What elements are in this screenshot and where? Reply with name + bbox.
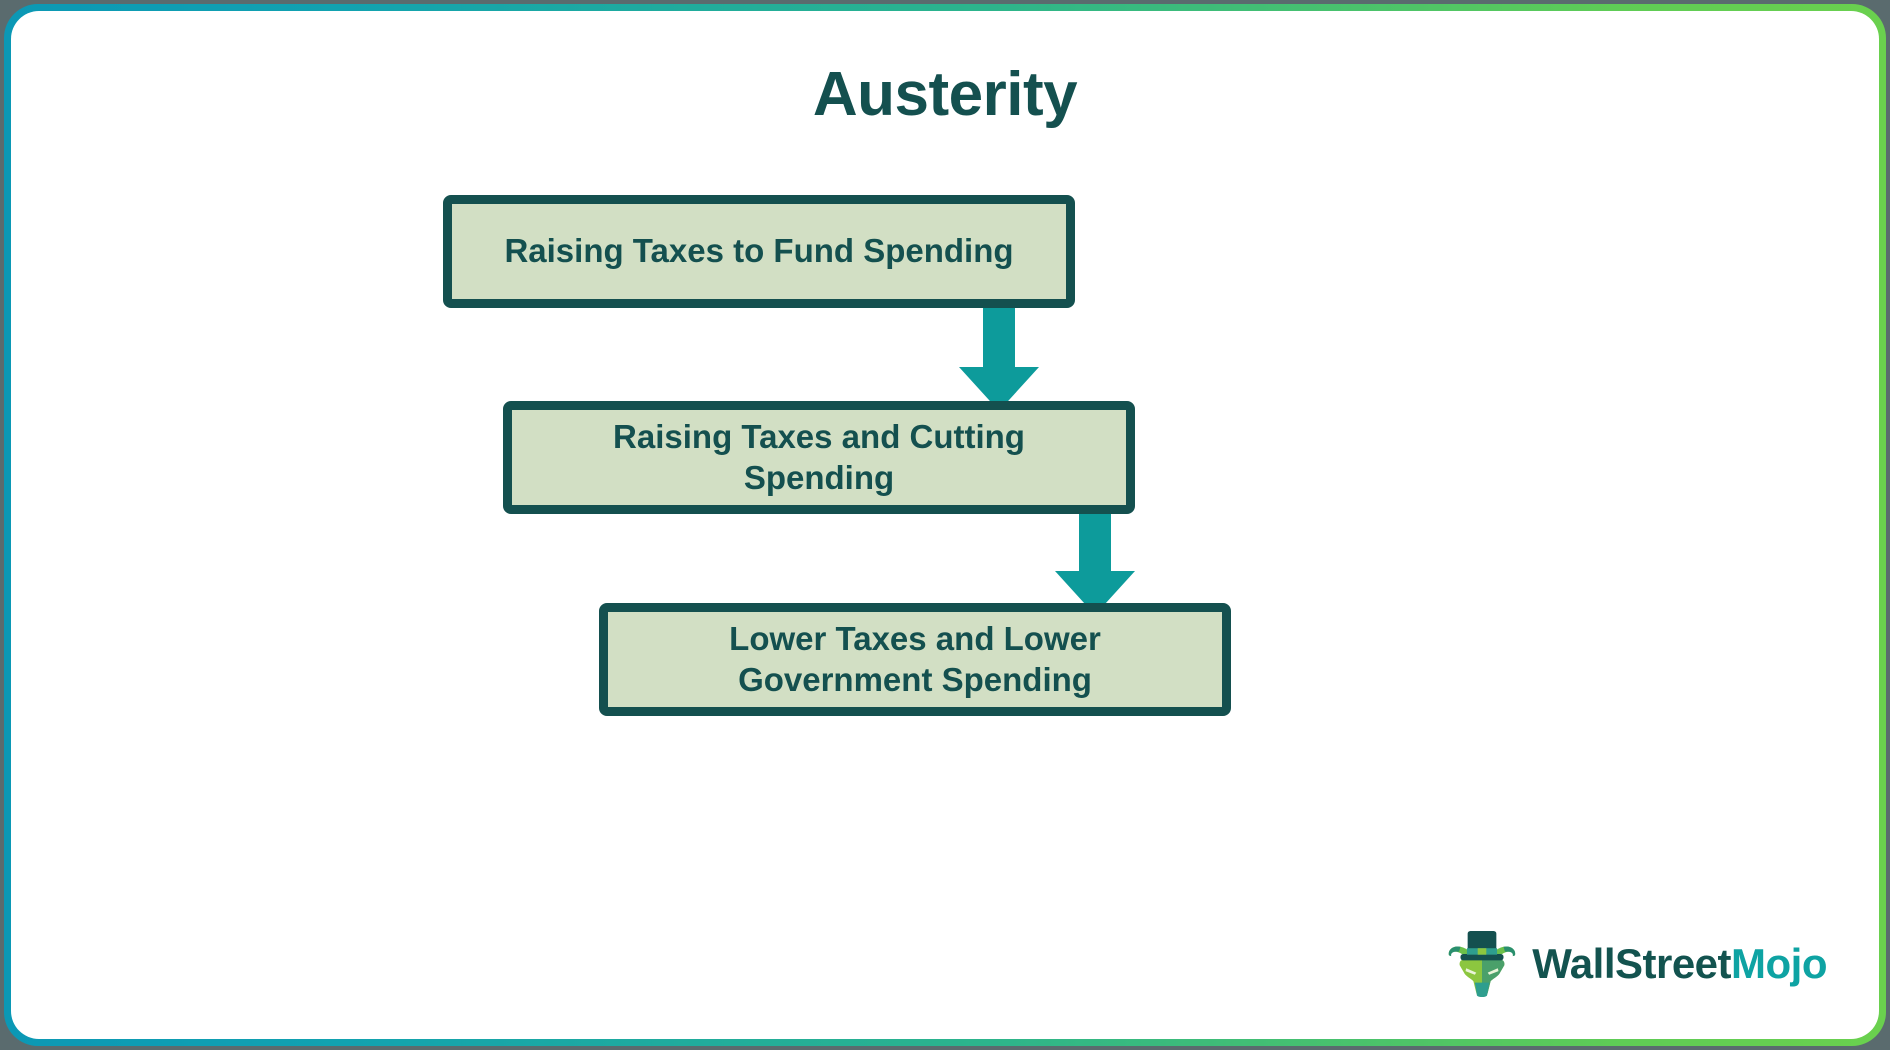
flow-node-1-label: Raising Taxes to Fund Spending xyxy=(504,231,1013,271)
page-title: Austerity xyxy=(11,59,1879,130)
logo-wordmark-accent: Mojo xyxy=(1731,940,1827,987)
wallstreetmojo-logo[interactable]: WallStreetMojo xyxy=(1446,931,1827,997)
bull-with-top-hat-icon xyxy=(1446,931,1518,997)
flow-node-3[interactable]: Lower Taxes and Lower Government Spendin… xyxy=(599,603,1231,716)
flow-node-1[interactable]: Raising Taxes to Fund Spending xyxy=(443,195,1075,308)
logo-wordmark-primary: WallStreet xyxy=(1532,940,1731,987)
diagram-card: Austerity Raising Taxes to Fund Spending… xyxy=(11,11,1879,1039)
gradient-frame: Austerity Raising Taxes to Fund Spending… xyxy=(4,4,1886,1046)
flow-node-3-label: Lower Taxes and Lower Government Spendin… xyxy=(630,619,1200,700)
logo-wordmark: WallStreetMojo xyxy=(1532,940,1827,988)
flow-node-2-label: Raising Taxes and Cutting Spending xyxy=(534,417,1104,498)
flow-node-2[interactable]: Raising Taxes and Cutting Spending xyxy=(503,401,1135,514)
